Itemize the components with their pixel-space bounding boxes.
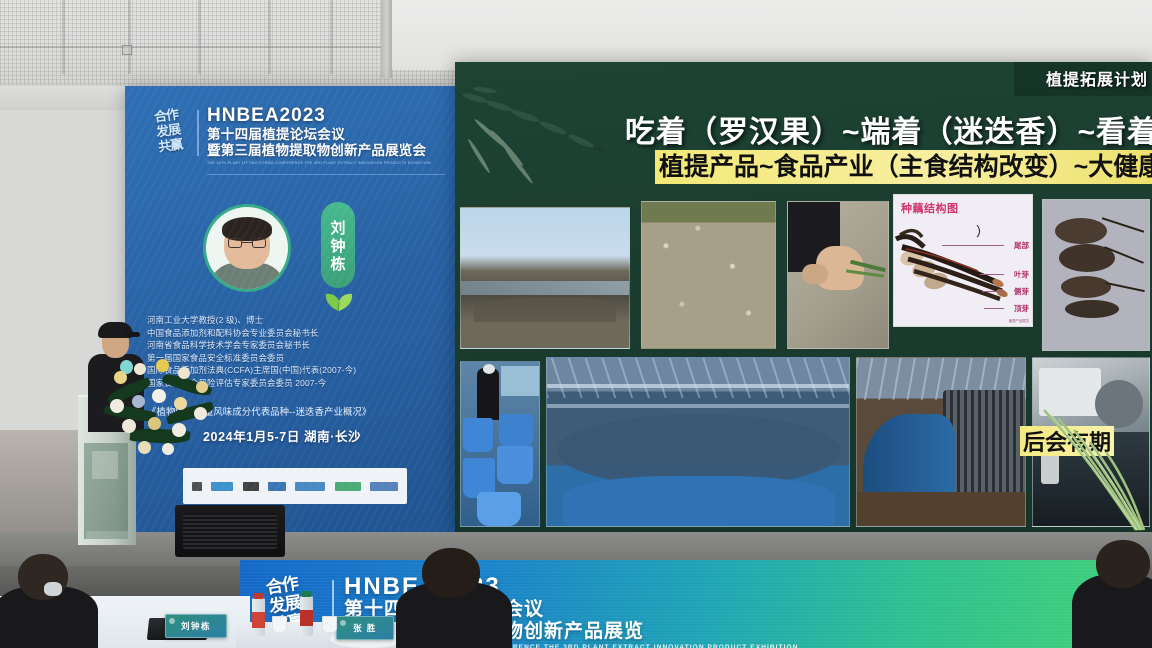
photo-gravel-field [641, 201, 776, 349]
back-wall [392, 0, 1152, 70]
sponsor-logos [183, 468, 407, 504]
photo-tidal-mudflat [460, 207, 630, 349]
avatar-face [224, 221, 270, 269]
date-location: 2024年1月5-7日 湖南·长沙 [203, 426, 361, 445]
paper-cup [272, 616, 287, 633]
glasses-icon [228, 238, 266, 248]
bio-line: 中国食品添加剂和配料协会专业委员会秘书长 [147, 327, 447, 340]
rosemary-sprig-icon [455, 86, 635, 196]
ceiling-vent-icon [122, 45, 132, 55]
face-mask-left [44, 582, 62, 596]
conference-line-3: 暨第三届植物提取物创新产品展览会 [207, 143, 447, 159]
lotus-root-illustration [894, 213, 1033, 323]
name-char-3: 栋 [330, 256, 345, 273]
speaker-intro-slide: 合作 发展 共赢 HNBEA2023 第十四届植提论坛会议 暨第三届植物提取物创… [125, 86, 455, 532]
speaker-avatar [203, 204, 291, 292]
photo-hand-seedling [787, 201, 889, 349]
logo-divider [197, 110, 199, 156]
audience-head-center [422, 548, 480, 598]
placard-second-guest: 张 胜 [336, 616, 394, 640]
audience-head-right [1096, 540, 1150, 588]
diagram-label-tail: 尾部 [1014, 240, 1029, 251]
conference-photo-stage: 合作 发展 共赢 HNBEA2023 第十四届植提论坛会议 暨第三届植物提取物创… [0, 0, 1152, 648]
placard-label: 张 胜 [353, 622, 377, 634]
screen-corner-tag: 植提拓展计划 [1046, 66, 1148, 90]
slide-header: HNBEA2023 第十四届植提论坛会议 暨第三届植物提取物创新产品展览会 TH… [207, 106, 447, 165]
water-bottle [300, 596, 313, 636]
speaker-name-badge: 刘 钟 栋 [321, 202, 355, 288]
header-rule [207, 174, 445, 175]
cooperation-logo: 合作 发展 共赢 [142, 105, 196, 161]
bio-line: 河南省食品科学技术学会专家委员会秘书长 [147, 339, 447, 352]
diagram-footnote: 植提产品展览 [1009, 318, 1029, 323]
diagram-label-top-bud: 顶芽 [1014, 303, 1029, 314]
leaf-icon [321, 286, 357, 312]
green-stems-icon [1040, 392, 1152, 532]
paper-cup [322, 616, 337, 633]
lotus-root-structure-diagram: 种藕结构图 ） 尾部 叶芽 侧芽 顶芽 [893, 194, 1033, 327]
conference-line-2: 第十四届植提论坛会议 [207, 127, 447, 143]
screen-subheadline-highlight: 植提产品~食品产业（主食结构改变）~大健康 [655, 150, 1152, 184]
presentation-screen: 植提拓展计划 吃着（罗汉果）~端着（迷迭香）~看着 植提产品~食品产业 [455, 62, 1152, 532]
photo-greenhouse-pond-liner [856, 357, 1026, 527]
photo-greenhouse-water-tank [546, 357, 850, 527]
photo-lotus-root-specimens [1042, 199, 1150, 351]
avatar-hair [222, 217, 272, 241]
placard-label: 刘钟栋 [181, 620, 211, 632]
bio-line: 河南工业大学教授(2 级)、博士 [147, 314, 447, 327]
diagram-label-side-bud: 侧芽 [1014, 286, 1029, 297]
conference-english-subtitle: THE 14TH PLANT LIFTING FORUM CONFERENCE … [207, 161, 447, 165]
placard-liu-zhongdong: 刘钟栋 [165, 614, 227, 638]
photo-worker-blue-barrels [460, 361, 540, 527]
diagram-label-leaf-bud: 叶芽 [1014, 269, 1029, 280]
photo-grid-top [460, 199, 1150, 349]
floral-arrangement [104, 355, 220, 460]
water-bottle [252, 598, 265, 636]
ceiling-pillar [381, 0, 392, 78]
screen-headline: 吃着（罗汉果）~端着（迷迭香）~看着 [625, 107, 1152, 151]
conference-code: HNBEA2023 [207, 106, 447, 126]
name-char-1: 刘 [330, 220, 345, 237]
avatar-torso [209, 263, 285, 292]
name-char-2: 钟 [330, 238, 345, 255]
stage-floor-monitor [175, 505, 285, 557]
screen-subheadline: 植提产品~食品产业（主食结构改变）~大健康 [659, 154, 1152, 180]
